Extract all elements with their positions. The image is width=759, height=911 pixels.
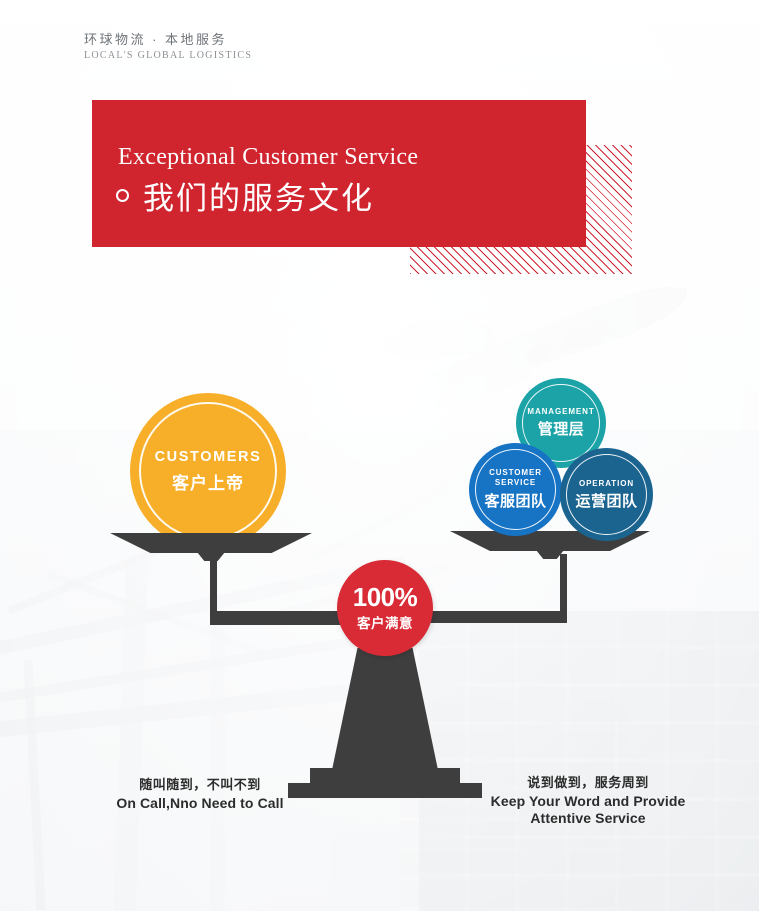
poster-canvas: 环球物流 · 本地服务 LOCAL'S GLOBAL LOGISTICS Exc… xyxy=(0,0,759,911)
caption-left-english: On Call,Nno Need to Call xyxy=(110,795,290,812)
caption-right: 说到做到，服务周到 Keep Your Word and Provide Att… xyxy=(488,772,688,827)
caption-right-english: Keep Your Word and Provide Attentive Ser… xyxy=(488,793,688,827)
operation-circle[interactable]: OPERATION 运营团队 xyxy=(560,448,653,541)
satisfaction-label: 客户满意 xyxy=(357,612,413,632)
satisfaction-value: 100% xyxy=(353,584,418,611)
caption-left: 随叫随到，不叫不到 On Call,Nno Need to Call xyxy=(110,774,290,812)
caption-left-chinese: 随叫随到，不叫不到 xyxy=(110,774,290,793)
satisfaction-badge[interactable]: 100% 客户满意 xyxy=(337,560,433,656)
customer-service-circle[interactable]: CUSTOMER SERVICE 客服团队 xyxy=(469,443,562,536)
inner-ring-decoration xyxy=(139,402,277,540)
scale-base-lower xyxy=(288,783,482,798)
scale-base-upper xyxy=(310,768,460,784)
scale-pedestal-column xyxy=(332,648,438,770)
caption-right-chinese: 说到做到，服务周到 xyxy=(488,772,688,791)
customers-circle[interactable]: CUSTOMERS 客户上帝 xyxy=(130,393,286,549)
scale-pan-left xyxy=(110,533,312,553)
inner-ring-decoration xyxy=(566,454,647,535)
inner-ring-decoration xyxy=(475,449,556,530)
